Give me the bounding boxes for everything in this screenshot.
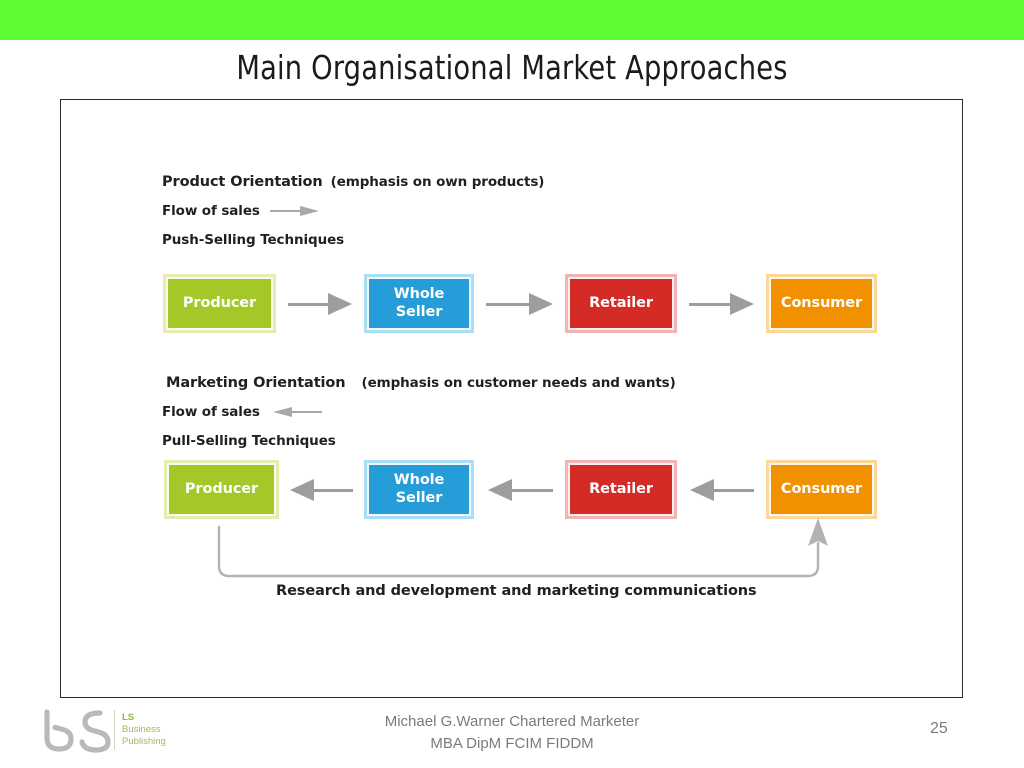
node-whole-seller-bottom-line2: Seller: [394, 490, 445, 507]
chain-arrow-bottom-1: [290, 479, 353, 501]
node-producer-top-label: Producer: [166, 277, 273, 330]
chain-arrow-top-3: [689, 293, 754, 315]
feedback-loop-arrowhead: [808, 518, 828, 546]
chain-arrow-top-2: [486, 293, 553, 315]
node-retailer-top-label: Retailer: [568, 277, 674, 330]
node-consumer-top[interactable]: Consumer: [766, 274, 877, 333]
top-accent-band: [0, 0, 1024, 40]
node-producer-bottom[interactable]: Producer: [164, 460, 279, 519]
node-whole-seller-bottom-label: Whole Seller: [367, 463, 471, 516]
node-producer-top[interactable]: Producer: [163, 274, 276, 333]
section-title-text-2: Marketing Orientation: [166, 375, 346, 391]
content-frame: Product Orientation(emphasis on own prod…: [60, 99, 963, 698]
page-title: Main Organisational Market Approaches: [41, 48, 983, 87]
feedback-loop-caption: Research and development and marketing c…: [276, 583, 757, 599]
node-consumer-bottom-label: Consumer: [769, 463, 874, 516]
flow-of-sales-row-top: Flow of sales: [162, 203, 322, 219]
flow-of-sales-label-bottom: Flow of sales: [162, 404, 260, 420]
section-heading-product-orientation: Product Orientation(emphasis on own prod…: [162, 174, 544, 190]
page-number: 25: [930, 720, 974, 738]
node-consumer-bottom[interactable]: Consumer: [766, 460, 877, 519]
node-producer-bottom-label: Producer: [167, 463, 276, 516]
footer-credit: Michael G.Warner Chartered Marketer MBA …: [0, 711, 1024, 755]
flow-right-arrow-icon: [270, 204, 322, 218]
section-note-text-2: (emphasis on customer needs and wants): [362, 375, 676, 391]
push-selling-label: Push-Selling Techniques: [162, 232, 344, 248]
section-note-text: (emphasis on own products): [331, 174, 545, 190]
chain-arrow-bottom-3: [690, 479, 754, 501]
node-retailer-bottom[interactable]: Retailer: [565, 460, 677, 519]
flow-of-sales-label-top: Flow of sales: [162, 203, 260, 219]
footer-credit-line-1: Michael G.Warner Chartered Marketer: [0, 711, 1024, 733]
section-heading-marketing-orientation: Marketing Orientation(emphasis on custom…: [166, 375, 676, 391]
chain-arrow-bottom-2: [488, 479, 553, 501]
node-whole-seller-bottom[interactable]: Whole Seller: [364, 460, 474, 519]
flow-left-arrow-icon: [270, 405, 322, 419]
node-consumer-top-label: Consumer: [769, 277, 874, 330]
market-approach-diagram: Product Orientation(emphasis on own prod…: [61, 100, 964, 699]
chain-arrow-top-1: [288, 293, 352, 315]
flow-of-sales-row-bottom: Flow of sales: [162, 404, 322, 420]
pull-selling-label: Pull-Selling Techniques: [162, 433, 336, 449]
section-title-text: Product Orientation: [162, 174, 323, 190]
node-retailer-bottom-label: Retailer: [568, 463, 674, 516]
footer-credit-line-2: MBA DipM FCIM FIDDM: [0, 733, 1024, 755]
node-whole-seller-top-line1: Whole: [394, 286, 445, 303]
node-whole-seller-top-line2: Seller: [394, 304, 445, 321]
node-whole-seller-bottom-line1: Whole: [394, 472, 445, 489]
node-whole-seller-top-label: Whole Seller: [367, 277, 471, 330]
node-retailer-top[interactable]: Retailer: [565, 274, 677, 333]
node-whole-seller-top[interactable]: Whole Seller: [364, 274, 474, 333]
